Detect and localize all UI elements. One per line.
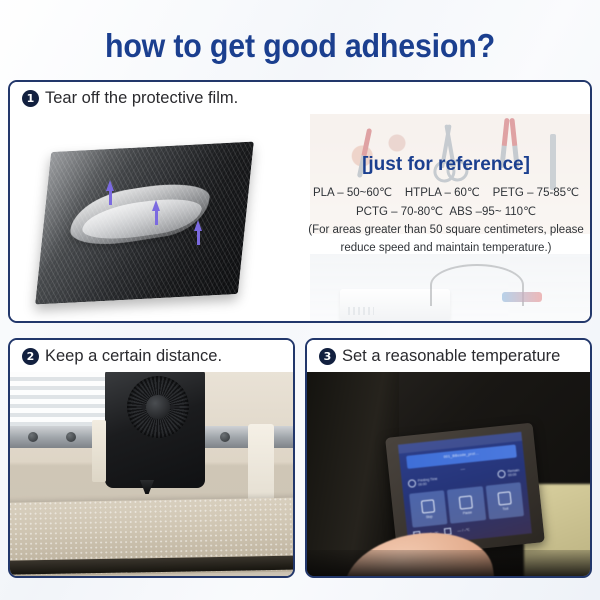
step-2-header: 2 Keep a certain distance. (10, 340, 293, 372)
step-3-header: 3 Set a reasonable temperature (307, 340, 590, 372)
screen-tile-stop[interactable]: Stop (409, 490, 448, 528)
printhead-photo (10, 372, 293, 576)
step-panel-2: 2 Keep a certain distance. (8, 338, 295, 578)
step-panel-1: 1 Tear off the protective film. (8, 80, 592, 323)
step-2-badge: 2 (22, 348, 39, 365)
peel-arrow-icon (106, 180, 114, 191)
stop-icon (421, 499, 435, 513)
clock-icon (408, 479, 417, 488)
page-title: how to get good adhesion? (105, 27, 495, 65)
reference-block: [just for reference] PLA – 50~60℃ HTPLA … (296, 154, 592, 258)
status-text: –– / –℃ (457, 527, 470, 532)
rail-bolt (66, 432, 76, 442)
screen-tile-pause[interactable]: Pause (447, 486, 486, 524)
peel-arrow-icon (152, 200, 160, 211)
peel-arrow-icon (194, 220, 202, 231)
step-2-heading: Keep a certain distance. (45, 347, 222, 366)
clamp (502, 292, 542, 302)
step-1-body: [just for reference] PLA – 50~60℃ HTPLA … (10, 114, 590, 321)
tile-label: Tool (502, 506, 508, 511)
reference-title: [just for reference] (296, 154, 592, 176)
tool-icon (497, 491, 511, 505)
touchscreen-display[interactable]: 001_BBcode_prot… –– Printing Time 00:00 (398, 432, 532, 546)
print-head (105, 372, 205, 488)
step-1-heading: Tear off the protective film. (45, 89, 238, 108)
stat-value: 00:00 (418, 481, 438, 487)
step-1-badge: 1 (22, 90, 39, 107)
reference-note-line-1: (For areas greater than 50 square centim… (296, 222, 592, 240)
screen-stat-remain: Remain 00:00 (497, 468, 519, 479)
step-3-heading: Set a reasonable temperature (342, 347, 560, 366)
page-title-bar: how to get good adhesion? (0, 20, 600, 72)
hourglass-icon (497, 470, 506, 479)
step-3-badge: 3 (319, 348, 336, 365)
rail-bolt (28, 432, 38, 442)
build-plate-photo (24, 118, 289, 318)
pause-icon (459, 495, 473, 509)
head-bracket (92, 420, 106, 482)
stat-value: 00:00 (508, 472, 520, 477)
screen-stat-printing-time: Printing Time 00:00 (408, 477, 439, 489)
rail-bolt (220, 432, 230, 442)
step-1-header: 1 Tear off the protective film. (10, 82, 590, 114)
step-panel-3: 3 Set a reasonable temperature 001_BBcod… (305, 338, 592, 578)
tile-label: Pause (463, 510, 472, 515)
cooling-fan (127, 376, 189, 438)
screen-tile-tool[interactable]: Tool (485, 482, 524, 520)
foreground-shadow (307, 550, 590, 576)
touchscreen-photo: 001_BBcode_prot… –– Printing Time 00:00 (307, 372, 590, 576)
reference-note-line-2: reduce speed and maintain temperature.) (296, 240, 592, 258)
reference-line-2: PCTG – 70-80℃ ABS –95~ 110℃ (296, 203, 592, 222)
tile-label: Stop (426, 514, 433, 519)
reference-line-1: PLA – 50~60℃ HTPLA – 60℃ PETG – 75-85℃ (296, 184, 592, 203)
poster-root: how to get good adhesion? 1 Tear off the… (0, 0, 600, 600)
